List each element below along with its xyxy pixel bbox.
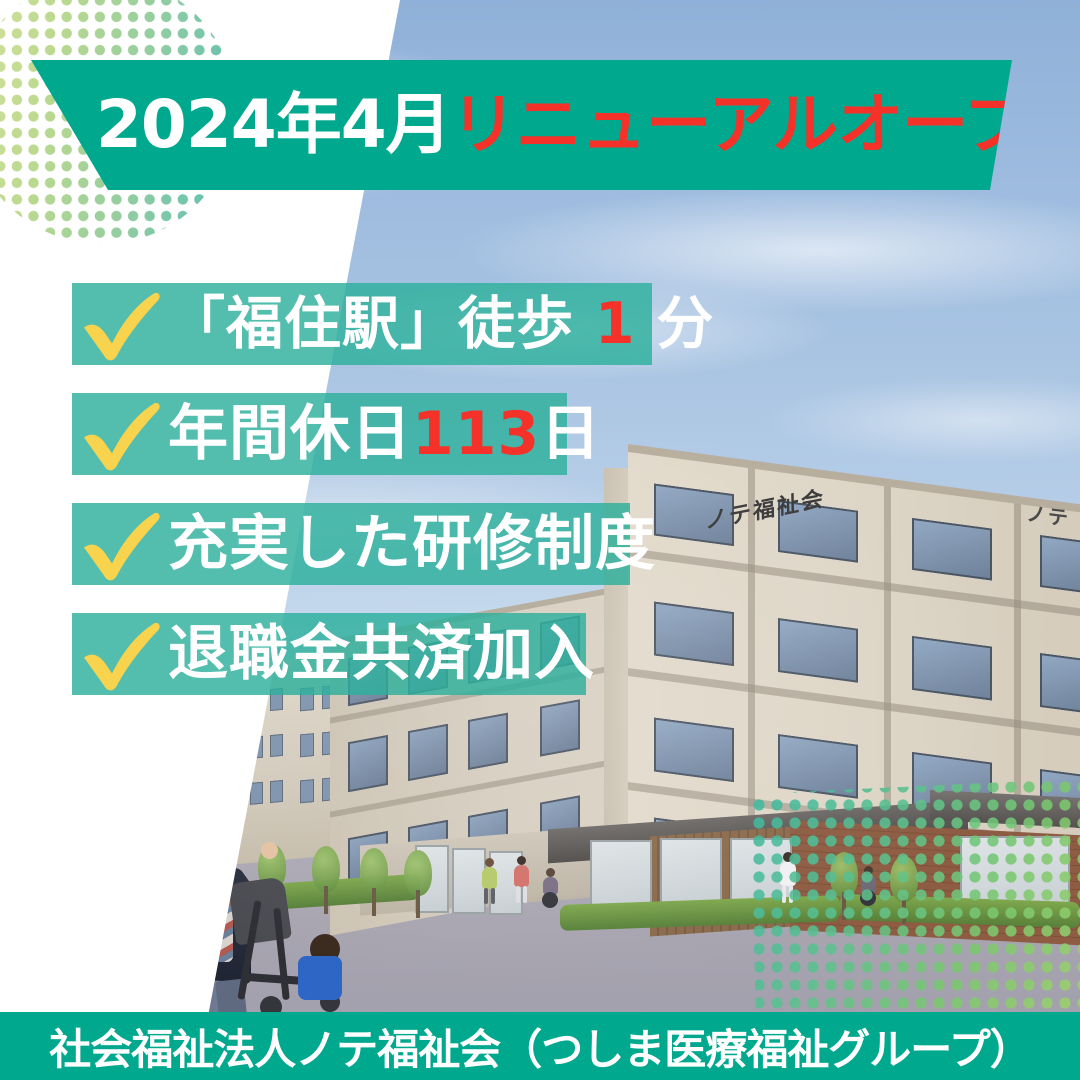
feature-text: 年間休日113日 [168,404,601,464]
halftone-dots-bottom-right [750,778,1080,1048]
headline-date: 2024年4月 [96,86,451,163]
feature-text: 退職金共済加入 [168,624,595,684]
shop-window-1 [590,840,652,910]
feature-item-holidays: 年間休日113日 [72,393,567,475]
check-icon [72,393,168,475]
child-body [298,956,342,1000]
feature-item-station: 「福住駅」徒歩 1 分 [72,283,652,365]
check-icon [72,283,168,365]
entrance-door-2 [452,848,486,914]
organization-name: 社会福祉法人ノテ福祉会（つしま医療福祉グループ） [49,1016,1030,1077]
headline-main: リニューアルオープン [451,86,1080,163]
feature-item-retirement: 退職金共済加入 [72,613,586,695]
check-icon [72,613,168,695]
shop-window-2 [660,838,722,908]
feature-text: 「福住駅」徒歩 1 分 [168,296,714,353]
headline-banner: 2024年4月リニューアルオープン [0,60,1080,190]
headline-text: 2024年4月リニューアルオープン [96,92,1080,158]
check-icon [72,503,168,585]
feature-text: 充実した研修制度 [168,514,656,574]
footer-banner: 社会福祉法人ノテ福祉会（つしま医療福祉グループ） [0,1012,1080,1080]
feature-item-training: 充実した研修制度 [72,503,630,585]
poster-root: ノテ福祉会 ノテ [0,0,1080,1080]
building-sign-right: ノテ [1026,497,1070,531]
